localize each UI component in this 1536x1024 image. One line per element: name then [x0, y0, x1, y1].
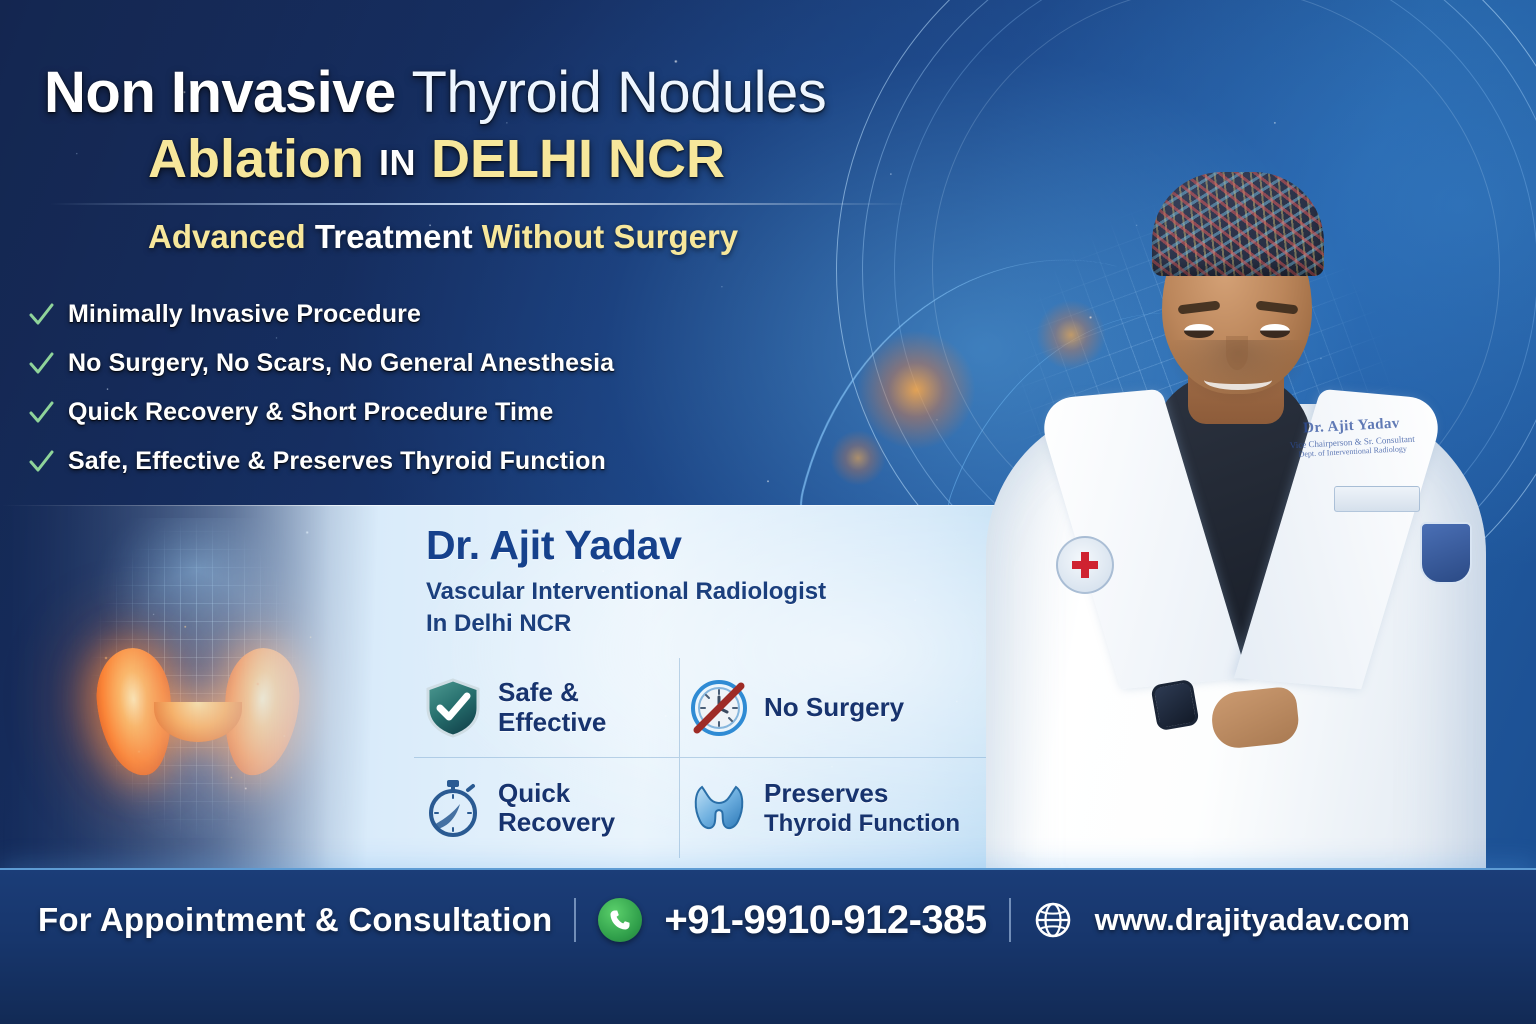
feature-label: Preserves Thyroid Function	[764, 779, 960, 838]
feature-label-line-1: Safe &	[498, 677, 579, 707]
benefit-label: Safe, Effective & Preserves Thyroid Func…	[68, 447, 606, 476]
footer-content: For Appointment & Consultation +91-9910-…	[38, 882, 1498, 958]
check-icon	[28, 351, 54, 377]
contact-footer-bar: For Appointment & Consultation +91-9910-…	[0, 868, 1536, 1024]
headline-place: DELHI NCR	[431, 129, 725, 189]
features-grid: Safe & Effective	[414, 658, 1014, 858]
feature-label-line-2: Effective	[498, 707, 606, 737]
shield-check-icon	[422, 677, 484, 739]
coat-pocket-id-card	[1334, 486, 1420, 512]
feature-label-line-1: Preserves	[764, 778, 888, 808]
smartwatch-icon	[1150, 679, 1199, 732]
doctor-name: Dr. Ajit Yadav	[426, 522, 682, 569]
footer-divider-2	[1009, 898, 1011, 942]
check-icon	[28, 302, 54, 328]
phone-icon[interactable]	[598, 898, 642, 942]
feature-label: Quick Recovery	[498, 779, 615, 837]
feature-label: No Surgery	[764, 693, 904, 722]
feature-label-line-1: No Surgery	[764, 692, 904, 722]
subtitle-treatment: Treatment	[315, 218, 473, 255]
globe-icon[interactable]	[1033, 900, 1073, 940]
subtitle-advanced: Advanced	[148, 218, 306, 255]
hospital-emblem-patch	[1056, 536, 1114, 594]
feature-quick-recovery: Quick Recovery	[414, 758, 680, 858]
headline-in: IN	[379, 142, 416, 183]
doctor-photo: Dr. Ajit Yadav Vice Chairperson & Sr. Co…	[956, 104, 1516, 924]
benefit-label: Minimally Invasive Procedure	[68, 300, 421, 329]
subtitle-without-surgery: Without Surgery	[482, 218, 738, 255]
headline-subtitle: Advanced Treatment Without Surgery	[148, 219, 944, 255]
medical-cross-icon	[1072, 552, 1098, 578]
coat-shield-logo	[1420, 522, 1472, 584]
feature-label-line-2: Recovery	[498, 807, 615, 837]
benefits-list: Minimally Invasive Procedure No Surgery,…	[28, 300, 728, 496]
headline-line-2: Ablation IN DELHI NCR	[148, 131, 944, 188]
doctor-nose	[1226, 336, 1248, 370]
feature-label-line-2: Thyroid Function	[764, 810, 960, 837]
website-url[interactable]: www.drajityadav.com	[1095, 902, 1410, 938]
feature-label: Safe & Effective	[498, 678, 606, 736]
feature-safe-effective: Safe & Effective	[414, 658, 680, 758]
footer-divider-1	[574, 898, 576, 942]
surgical-cap-icon	[1152, 172, 1324, 276]
promo-banner: Non Invasive Thyroid Nodules Ablation IN…	[0, 0, 1536, 1024]
headline-bold-part: Non Invasive	[44, 60, 396, 125]
doctor-eye-left	[1184, 324, 1214, 338]
no-clock-icon	[688, 677, 750, 739]
doctor-role: Vascular Interventional Radiologist In D…	[426, 576, 986, 639]
doctor-role-line-2: In Delhi NCR	[426, 608, 986, 640]
benefit-label: No Surgery, No Scars, No General Anesthe…	[68, 349, 614, 378]
headline-line-1: Non Invasive Thyroid Nodules	[44, 62, 944, 123]
check-icon	[28, 449, 54, 475]
headline-light-part: Thyroid Nodules	[411, 60, 826, 125]
feature-label-line-1: Quick	[498, 778, 570, 808]
orange-glow-3	[830, 430, 886, 486]
thyroid-icon	[688, 777, 750, 839]
doctor-eye-right	[1260, 324, 1290, 338]
phone-number[interactable]: +91-9910-912-385	[664, 898, 986, 943]
stopwatch-icon	[422, 777, 484, 839]
benefit-item: Safe, Effective & Preserves Thyroid Func…	[28, 447, 728, 476]
benefit-item: Minimally Invasive Procedure	[28, 300, 728, 329]
headline-ablation: Ablation	[148, 129, 364, 189]
doctor-smile	[1204, 370, 1272, 390]
appointment-cta-text: For Appointment & Consultation	[38, 901, 552, 939]
check-icon	[28, 400, 54, 426]
headline-block: Non Invasive Thyroid Nodules Ablation IN…	[44, 62, 944, 255]
headline-divider-rule	[50, 203, 910, 205]
doctor-role-line-1: Vascular Interventional Radiologist	[426, 576, 986, 608]
benefit-item: Quick Recovery & Short Procedure Time	[28, 398, 728, 427]
benefit-item: No Surgery, No Scars, No General Anesthe…	[28, 349, 728, 378]
benefit-label: Quick Recovery & Short Procedure Time	[68, 398, 553, 427]
